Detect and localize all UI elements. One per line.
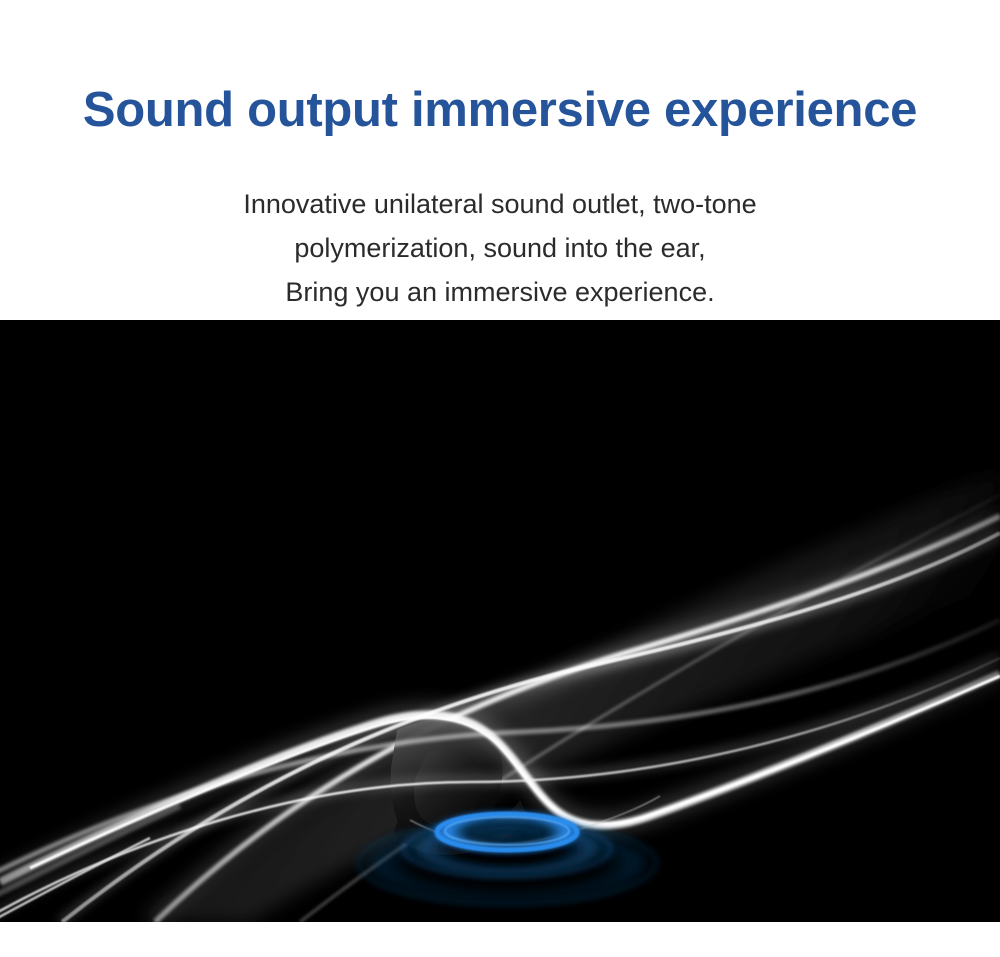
page-title: Sound output immersive experience [0, 84, 1000, 137]
marketing-text-block: Sound output immersive experience Innova… [0, 0, 1000, 320]
product-detail-page: Sound output immersive experience Innova… [0, 0, 1000, 957]
subtitle-paragraph: Innovative unilateral sound outlet, two-… [0, 182, 1000, 314]
subtitle-line-2: polymerization, sound into the ear, [0, 226, 1000, 270]
subtitle-line-3: Bring you an immersive experience. [0, 270, 1000, 314]
subtitle-line-1: Innovative unilateral sound outlet, two-… [0, 182, 1000, 226]
footer-whitespace [0, 922, 1000, 957]
hero-product-image [0, 320, 1000, 922]
